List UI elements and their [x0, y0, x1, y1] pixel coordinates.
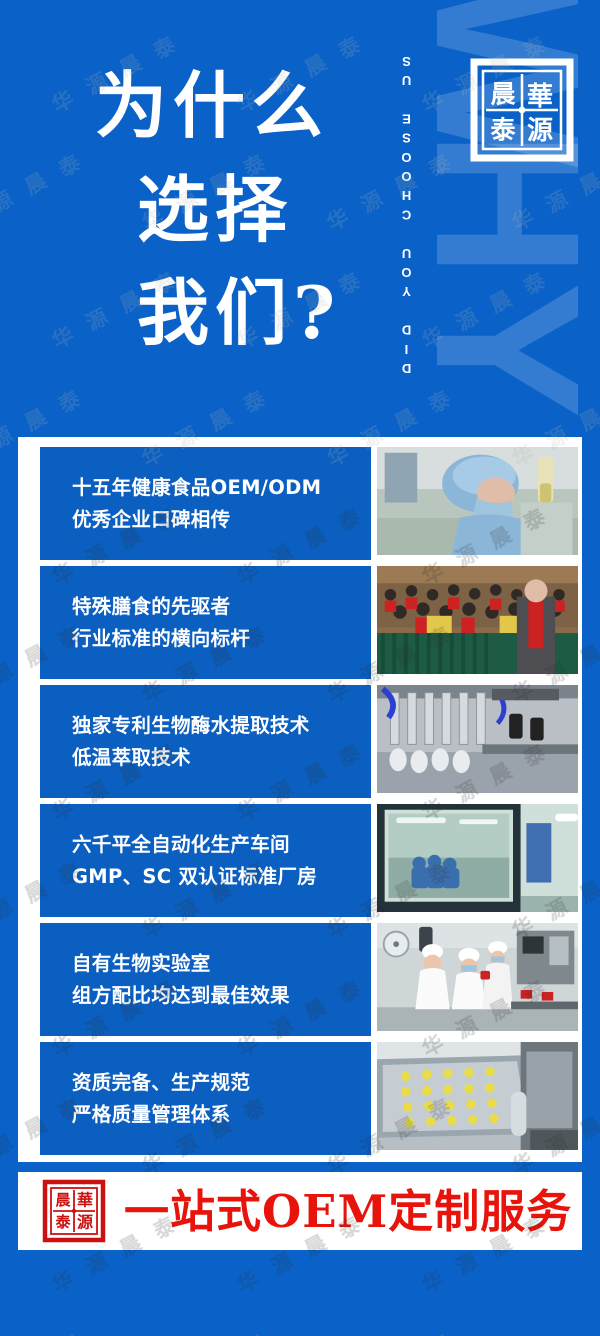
footer-slogan: 一站式OEM定制服务: [124, 1189, 572, 1234]
company-seal-icon: 華 源 晨 泰: [468, 56, 576, 164]
benefit-image-5: [377, 923, 578, 1036]
svg-text:華: 華: [527, 82, 553, 112]
benefit-row-2[interactable]: 特殊膳食的先驱者 行业标准的横向标杆: [40, 566, 578, 679]
benefit-row-3[interactable]: 独家专利生物酶水提取技术 低温萃取技术: [40, 685, 578, 798]
benefit-row-1[interactable]: 十五年健康食品OEM/ODM 优秀企业口碑相传: [40, 447, 578, 560]
watermark-text: 华 源 晨 泰: [0, 1325, 90, 1336]
benefit-line-1b: 优秀企业口碑相传: [72, 504, 371, 536]
title-line-1: 为什么: [95, 54, 385, 158]
benefit-image-6: [377, 1042, 578, 1155]
watermark-text: 华 源 晨 泰: [136, 1325, 275, 1336]
benefit-line-3a: 独家专利生物酶水提取技术: [72, 710, 371, 742]
benefit-text-5: 自有生物实验室 组方配比均达到最佳效果: [40, 923, 371, 1036]
benefit-line-3b: 低温萃取技术: [72, 742, 371, 774]
svg-text:源: 源: [527, 116, 553, 146]
svg-text:晨: 晨: [490, 80, 516, 109]
svg-text:源: 源: [77, 1213, 93, 1232]
benefit-image-4: [377, 804, 578, 917]
benefit-text-6: 资质完备、生产规范 严格质量管理体系: [40, 1042, 371, 1155]
watermark-text: 华 源 晨 泰: [506, 1325, 600, 1336]
title-line-2: 选择: [95, 158, 385, 262]
benefit-row-5[interactable]: 自有生物实验室 组方配比均达到最佳效果: [40, 923, 578, 1036]
svg-text:泰: 泰: [54, 1213, 71, 1231]
benefit-row-6[interactable]: 资质完备、生产规范 严格质量管理体系: [40, 1042, 578, 1155]
poster-header: W H Y 为什么 选择 我们? DID YOU CHOOSE US 華 源 晨…: [0, 0, 600, 437]
benefit-line-6a: 资质完备、生产规范: [72, 1067, 371, 1099]
benefit-line-4a: 六千平全自动化生产车间: [72, 829, 371, 861]
benefit-image-2: [377, 566, 578, 679]
footer-seal-icon: 華 源 晨 泰: [42, 1179, 106, 1243]
svg-text:泰: 泰: [490, 116, 516, 145]
page-title: 为什么 选择 我们?: [95, 54, 385, 365]
benefit-row-4[interactable]: 六千平全自动化生产车间 GMP、SC 双认证标准厂房: [40, 804, 578, 917]
poster-root: W H Y 为什么 选择 我们? DID YOU CHOOSE US 華 源 晨…: [0, 0, 600, 1336]
watermark-text: 华 源 晨 泰: [321, 1325, 460, 1336]
benefit-line-6b: 严格质量管理体系: [72, 1099, 371, 1131]
vertical-subtitle: DID YOU CHOOSE US: [399, 38, 421, 388]
svg-text:華: 華: [77, 1191, 93, 1210]
benefit-text-1: 十五年健康食品OEM/ODM 优秀企业口碑相传: [40, 447, 371, 560]
benefit-line-5a: 自有生物实验室: [72, 948, 371, 980]
benefit-text-3: 独家专利生物酶水提取技术 低温萃取技术: [40, 685, 371, 798]
benefit-line-1a: 十五年健康食品OEM/ODM: [72, 472, 371, 504]
why-glyph-y: Y: [405, 282, 600, 413]
benefit-line-5b: 组方配比均达到最佳效果: [72, 980, 371, 1012]
benefit-line-2a: 特殊膳食的先驱者: [72, 591, 371, 623]
benefit-text-4: 六千平全自动化生产车间 GMP、SC 双认证标准厂房: [40, 804, 371, 917]
benefits-panel: 十五年健康食品OEM/ODM 优秀企业口碑相传: [18, 437, 582, 1162]
benefit-line-2b: 行业标准的横向标杆: [72, 623, 371, 655]
benefit-image-3: [377, 685, 578, 798]
title-line-3: 我们?: [95, 261, 385, 365]
benefit-text-2: 特殊膳食的先驱者 行业标准的横向标杆: [40, 566, 371, 679]
benefit-image-1: [377, 447, 578, 560]
footer-bar: 華 源 晨 泰 一站式OEM定制服务: [18, 1172, 582, 1250]
benefit-line-4b: GMP、SC 双认证标准厂房: [72, 861, 371, 893]
svg-text:晨: 晨: [55, 1191, 71, 1209]
